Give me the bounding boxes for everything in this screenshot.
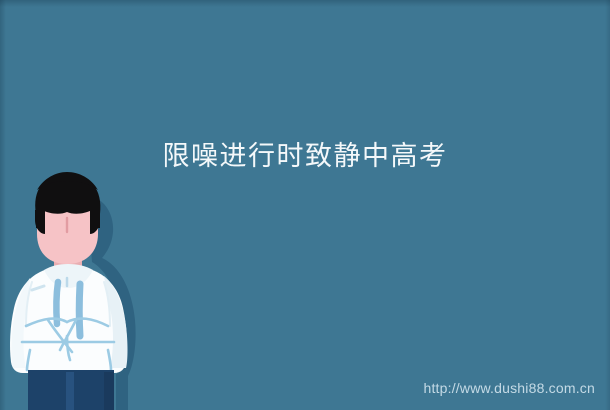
poster-canvas: 限噪进行时致静中高考 http://www.dushi88.com.cn [0,0,610,410]
page-title: 限噪进行时致静中高考 [0,138,610,174]
student-illustration [4,170,144,410]
watermark-url: http://www.dushi88.com.cn [423,380,595,396]
drawstring-right [79,284,80,336]
pants [28,370,114,410]
